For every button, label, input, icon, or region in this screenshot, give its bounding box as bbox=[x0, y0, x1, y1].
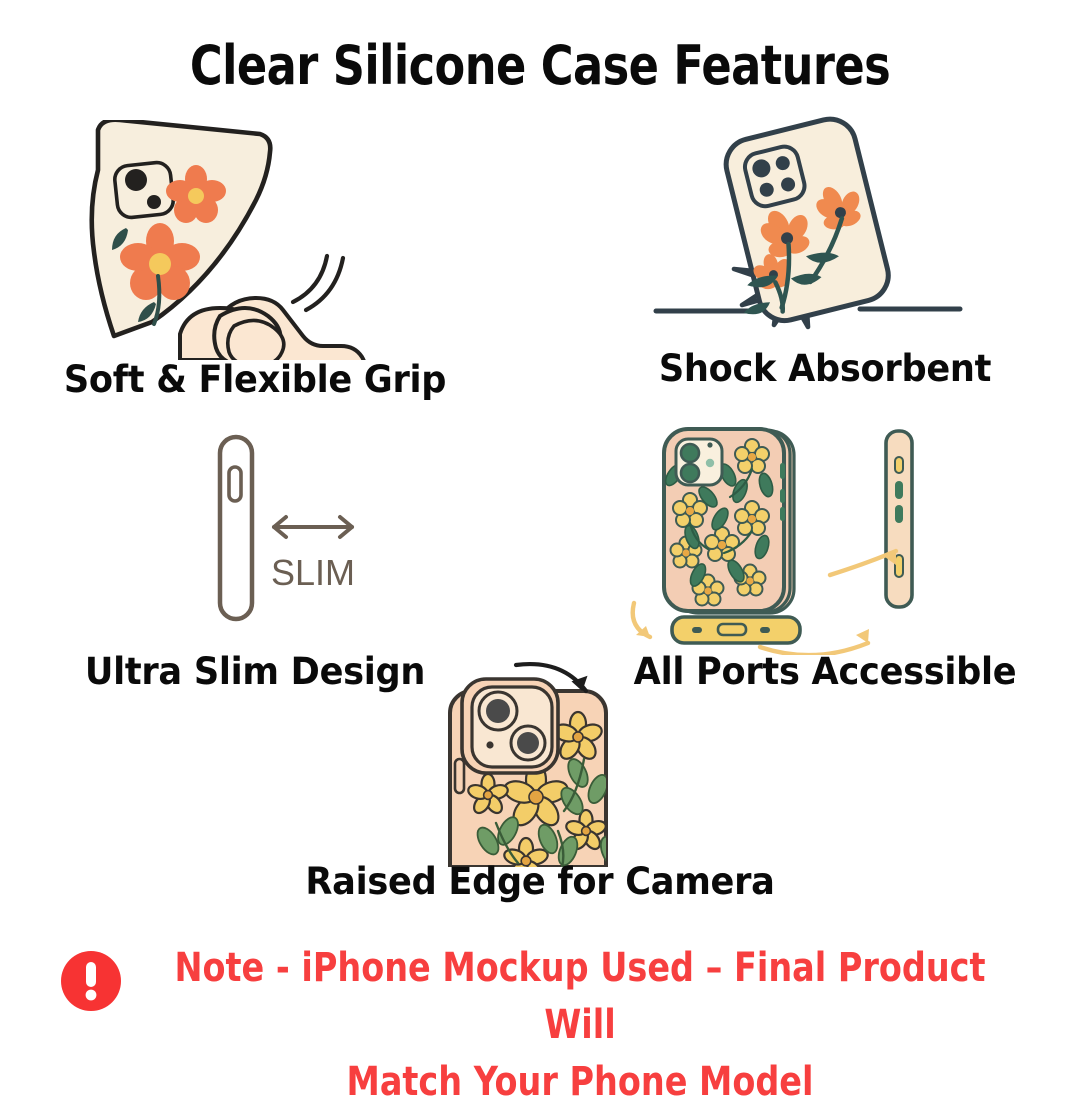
phone-raised-camera-edge-illustration bbox=[290, 655, 790, 867]
disclaimer-text: Note - iPhone Mockup Used – Final Produc… bbox=[171, 940, 989, 1110]
disclaimer-note: Note - iPhone Mockup Used – Final Produc… bbox=[0, 940, 1080, 1110]
feature-raised-edge-for-camera: Raised Edge for Camera bbox=[290, 655, 790, 925]
feature-label-raised-edge-for-camera: Raised Edge for Camera bbox=[303, 860, 778, 903]
infographic-page: Clear Silicone Case Features bbox=[0, 0, 1080, 1080]
disclaimer-line-1: Note - iPhone Mockup Used – Final Produc… bbox=[171, 940, 989, 1054]
slim-measure-label: SLIM bbox=[271, 552, 355, 593]
exclamation-circle-icon bbox=[60, 950, 122, 1012]
feature-label-shock-absorbent: Shock Absorbent bbox=[611, 347, 1039, 390]
feature-soft-flexible-grip: Soft & Flexible Grip bbox=[30, 120, 480, 410]
feature-label-soft-flexible-grip: Soft & Flexible Grip bbox=[41, 358, 469, 401]
phone-ports-cutouts-illustration bbox=[600, 415, 1050, 655]
disclaimer-line-2: Match Your Phone Model bbox=[171, 1054, 989, 1110]
phone-impact-burst-illustration bbox=[600, 115, 1050, 355]
hand-flexing-phone-case-illustration bbox=[30, 120, 480, 360]
feature-shock-absorbent: Shock Absorbent bbox=[600, 115, 1050, 405]
page-title: Clear Silicone Case Features bbox=[43, 34, 1037, 97]
phone-side-profile-slim-illustration: SLIM bbox=[30, 425, 480, 655]
